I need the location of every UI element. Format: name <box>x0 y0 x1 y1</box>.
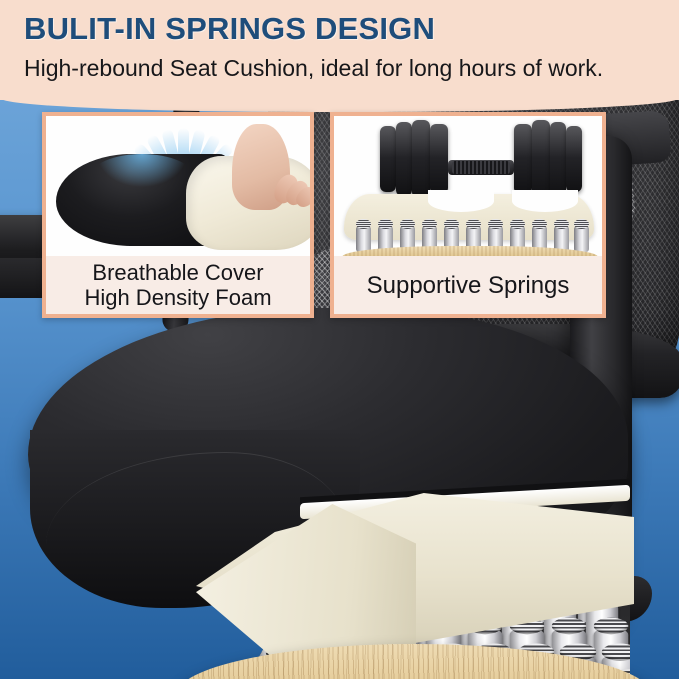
dumbbell-plate <box>532 120 550 198</box>
dumbbell-plate <box>396 122 412 196</box>
pocket-spring <box>356 226 371 252</box>
dumbbell-plate <box>550 122 566 196</box>
pocket-spring <box>574 226 589 252</box>
feature-panel-breathable-cover: Breathable Cover High Density Foam <box>42 112 314 318</box>
airflow-glow <box>90 154 194 200</box>
foam-wave-dip <box>428 190 494 212</box>
caption-line-1: Supportive Springs <box>367 273 570 298</box>
dumbbell-plate <box>412 120 430 198</box>
dumbbell-handle-grip <box>452 161 510 174</box>
product-marketing-image: BULIT-IN SPRINGS DESIGN High-rebound Sea… <box>0 0 679 679</box>
caption-line-2: High Density Foam <box>84 285 271 310</box>
dumbbell-plate <box>566 126 582 192</box>
header-band: BULIT-IN SPRINGS DESIGN High-rebound Sea… <box>0 0 679 112</box>
caption-line-1: Breathable Cover <box>92 260 263 285</box>
cushion-cutaway-illustration <box>46 116 310 264</box>
page-title: BULIT-IN SPRINGS DESIGN <box>24 11 435 47</box>
panel-caption: Breathable Cover High Density Foam <box>46 256 310 314</box>
page-subtitle: High-rebound Seat Cushion, ideal for lon… <box>24 54 603 82</box>
foam-wave-dip <box>512 190 578 212</box>
dumbbell-plate <box>514 124 532 194</box>
panel-caption: Supportive Springs <box>334 256 602 314</box>
dumbbell-plate <box>430 124 448 194</box>
dumbbell-on-springs-illustration <box>334 116 602 264</box>
dumbbell-plate <box>380 126 396 192</box>
feature-panel-supportive-springs: Supportive Springs <box>330 112 606 318</box>
